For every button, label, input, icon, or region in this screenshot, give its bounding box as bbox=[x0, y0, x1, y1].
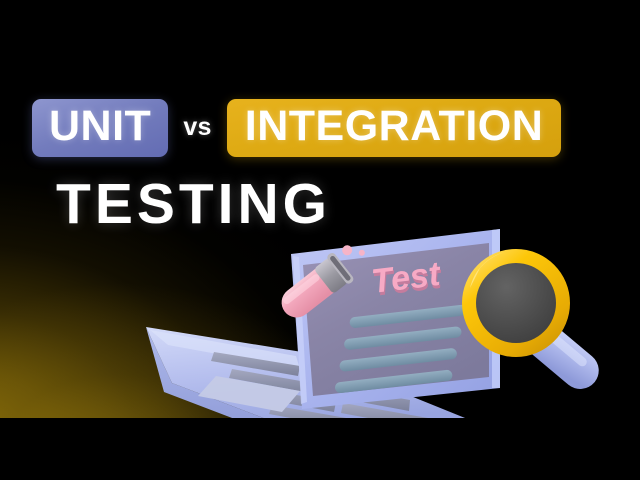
hero-illustration: Test Test bbox=[0, 0, 640, 480]
screen-heading: Test Test bbox=[369, 255, 444, 304]
letterbox-top bbox=[0, 0, 640, 34]
letterbox-bottom bbox=[0, 418, 640, 480]
subtitle-testing: TESTING bbox=[56, 176, 331, 233]
headline: UNIT vs INTEGRATION bbox=[32, 99, 561, 157]
versus-label: vs bbox=[183, 113, 211, 144]
badge-unit: UNIT bbox=[32, 99, 168, 157]
badge-integration: INTEGRATION bbox=[227, 99, 562, 157]
video-thumbnail-canvas: Test Test bbox=[0, 0, 640, 480]
